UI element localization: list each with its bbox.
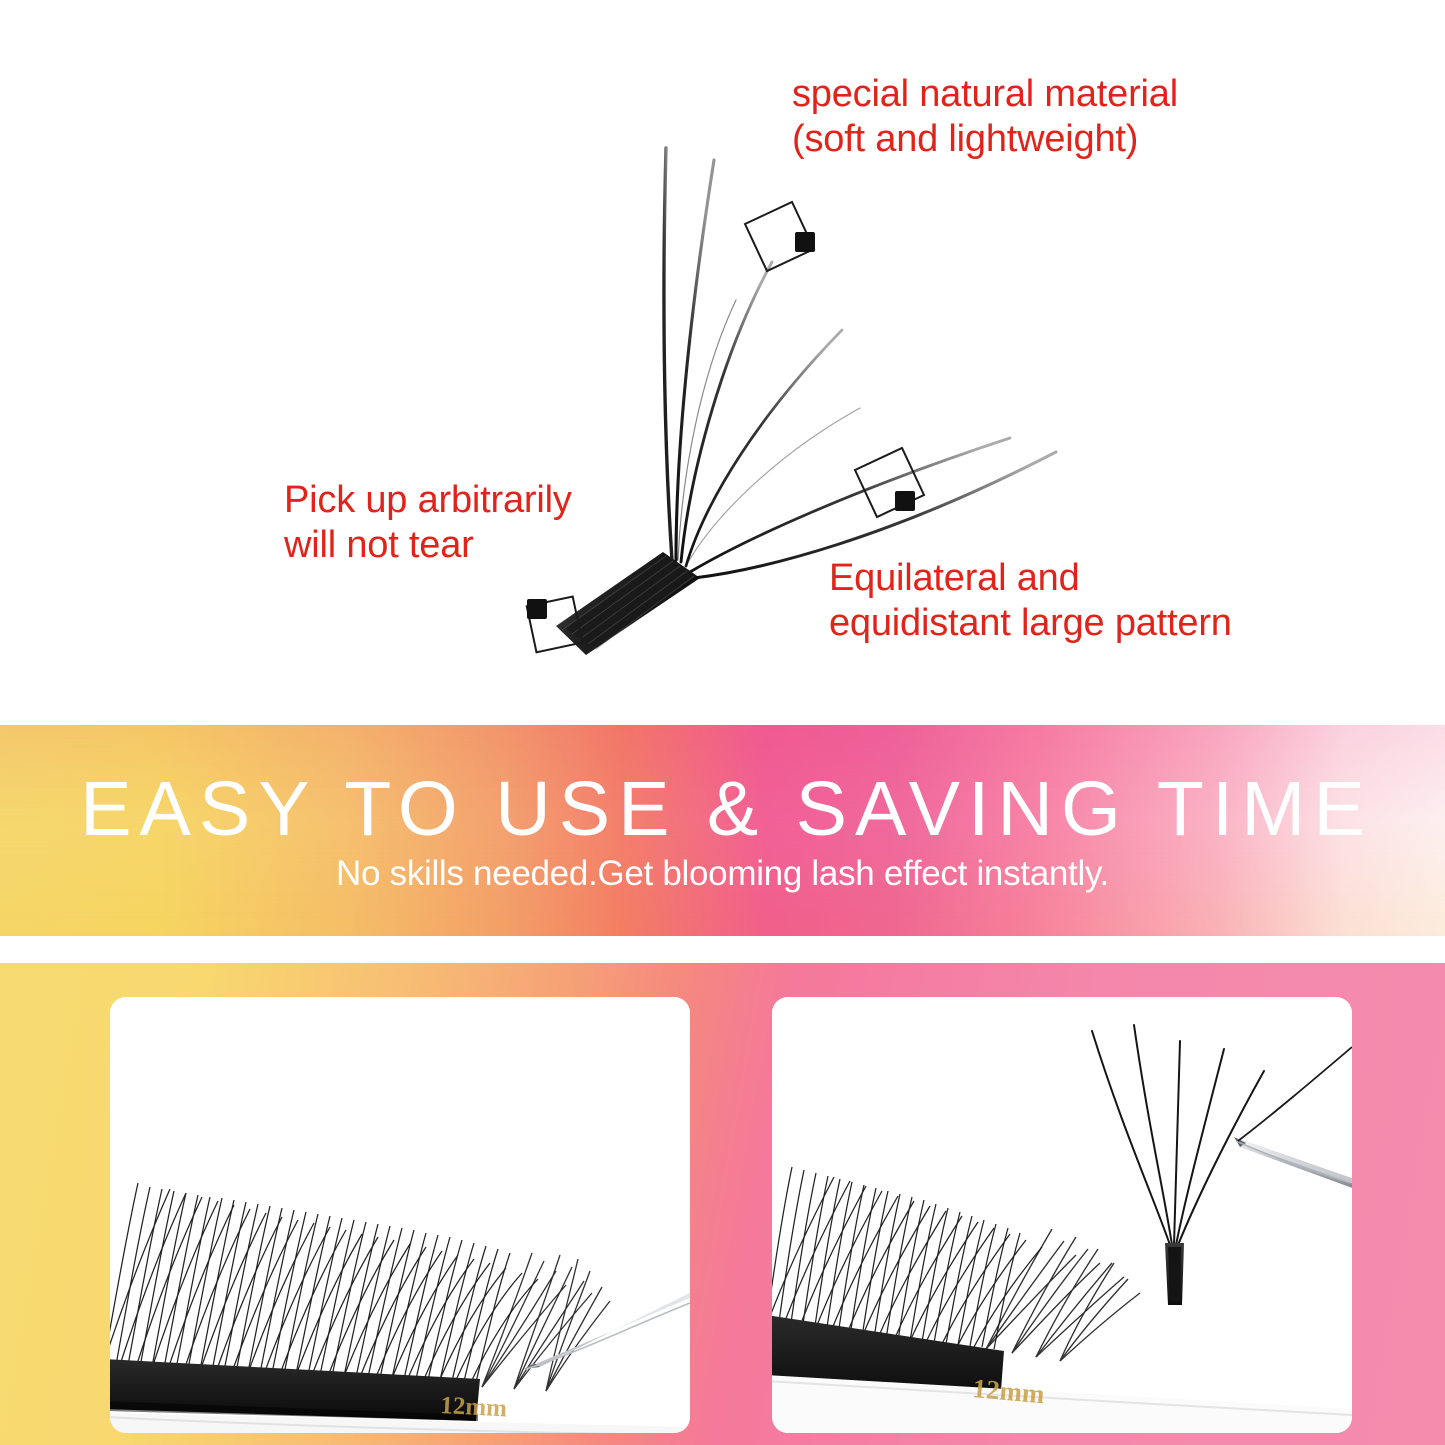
callout-marker-middle — [855, 448, 924, 517]
callout-equilateral-equidistant: Equilateral and equidistant large patter… — [829, 556, 1232, 646]
lash-size-label: 12mm — [440, 1392, 508, 1422]
banner-text-block: EASY TO USE & SAVING TIME No skills need… — [0, 725, 1445, 936]
photo-lash-tray-with-tweezers: 12mm — [110, 997, 690, 1433]
lash-size-label: 12mm — [971, 1373, 1046, 1409]
photo-right-illustration: 12mm — [772, 997, 1352, 1433]
lash-strand-2 — [676, 160, 714, 560]
lash-strand-group — [664, 148, 1056, 578]
callout-special-natural-material: special natural material (soft and light… — [792, 72, 1178, 162]
callout-marker-upper — [745, 202, 815, 271]
photo-left-illustration: 12mm — [110, 997, 690, 1433]
product-photo-section: 12mm — [0, 963, 1445, 1445]
hero-diagram-section: special natural material (soft and light… — [0, 0, 1445, 725]
lash-strand-wisp-2 — [686, 408, 860, 566]
photo-lash-fan-lifted-by-tweezers: 12mm — [772, 997, 1352, 1433]
promo-banner: EASY TO USE & SAVING TIME No skills need… — [0, 725, 1445, 936]
lash-base-strip — [556, 552, 700, 655]
lash-strand-1 — [664, 148, 672, 560]
callout-pick-up-arbitrarily: Pick up arbitrarily will not tear — [284, 478, 572, 568]
banner-headline: EASY TO USE & SAVING TIME — [72, 771, 1373, 848]
banner-subheadline: No skills needed.Get blooming lash effec… — [336, 856, 1109, 891]
